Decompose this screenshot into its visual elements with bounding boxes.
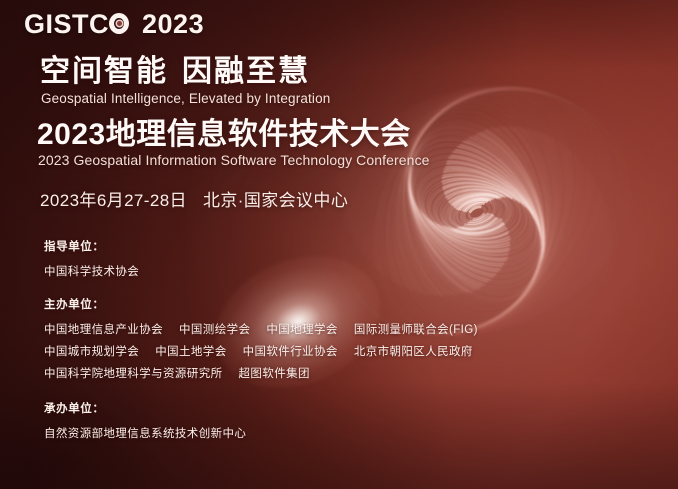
org-item: 中国科学院地理科学与资源研究所 (44, 365, 223, 381)
logo-wordmark: GISTC (24, 11, 109, 38)
headline-part-1: 空间智能 (40, 55, 168, 88)
org-row: 中国科学院地理科学与资源研究所超图软件集团 (44, 365, 494, 381)
org-label: 指导单位： (44, 238, 155, 254)
org-item: 中国地理学会 (266, 321, 337, 337)
org-item: 中国地理信息产业协会 (44, 321, 163, 337)
org-label: 主办单位： (44, 296, 494, 312)
event-date: 2023年6月27-28日 (40, 191, 187, 210)
org-row: 中国科学技术协会 (44, 263, 155, 279)
event-meta: 2023年6月27-28日北京·国家会议中心 (40, 186, 348, 211)
org-block-organizer: 承办单位： 自然资源部地理信息系统技术创新中心 (44, 400, 262, 447)
org-item: 中国城市规划学会 (44, 343, 139, 359)
org-block-hosts: 主办单位： 中国地理信息产业协会中国测绘学会中国地理学会国际测量师联合会(FIG… (44, 296, 494, 387)
org-item: 中国软件行业协会 (243, 343, 338, 359)
org-row: 自然资源部地理信息系统技术创新中心 (44, 425, 262, 441)
org-label: 承办单位： (44, 400, 262, 416)
org-item: 自然资源部地理信息系统技术创新中心 (44, 425, 246, 441)
headline-part-2: 因融至慧 (182, 55, 310, 88)
org-block-guidance: 指导单位： 中国科学技术协会 (44, 238, 155, 285)
org-item: 中国科学技术协会 (44, 263, 139, 279)
conference-title-cn: 2023地理信息软件技术大会 (37, 118, 411, 151)
org-item: 北京市朝阳区人民政府 (354, 343, 473, 359)
headline-subtitle-en: Geospatial Intelligence, Elevated by Int… (41, 91, 330, 106)
org-row: 中国城市规划学会中国土地学会中国软件行业协会北京市朝阳区人民政府 (44, 343, 494, 359)
org-item: 国际测量师联合会(FIG) (354, 321, 478, 337)
org-item: 中国土地学会 (155, 343, 226, 359)
conference-poster: GISTC2023 空间智能因融至慧 Geospatial Intelligen… (0, 0, 678, 489)
conference-title-en: 2023 Geospatial Information Software Tec… (38, 152, 430, 168)
org-row: 中国地理信息产业协会中国测绘学会中国地理学会国际测量师联合会(FIG) (44, 321, 494, 337)
gistc-logo: GISTC2023 (24, 11, 204, 38)
globe-c-icon (109, 12, 133, 37)
logo-year: 2023 (142, 11, 204, 38)
event-venue: 北京·国家会议中心 (203, 191, 348, 210)
page-headline: 空间智能因融至慧 (40, 56, 310, 88)
org-item: 超图软件集团 (239, 365, 310, 381)
org-item: 中国测绘学会 (179, 321, 250, 337)
